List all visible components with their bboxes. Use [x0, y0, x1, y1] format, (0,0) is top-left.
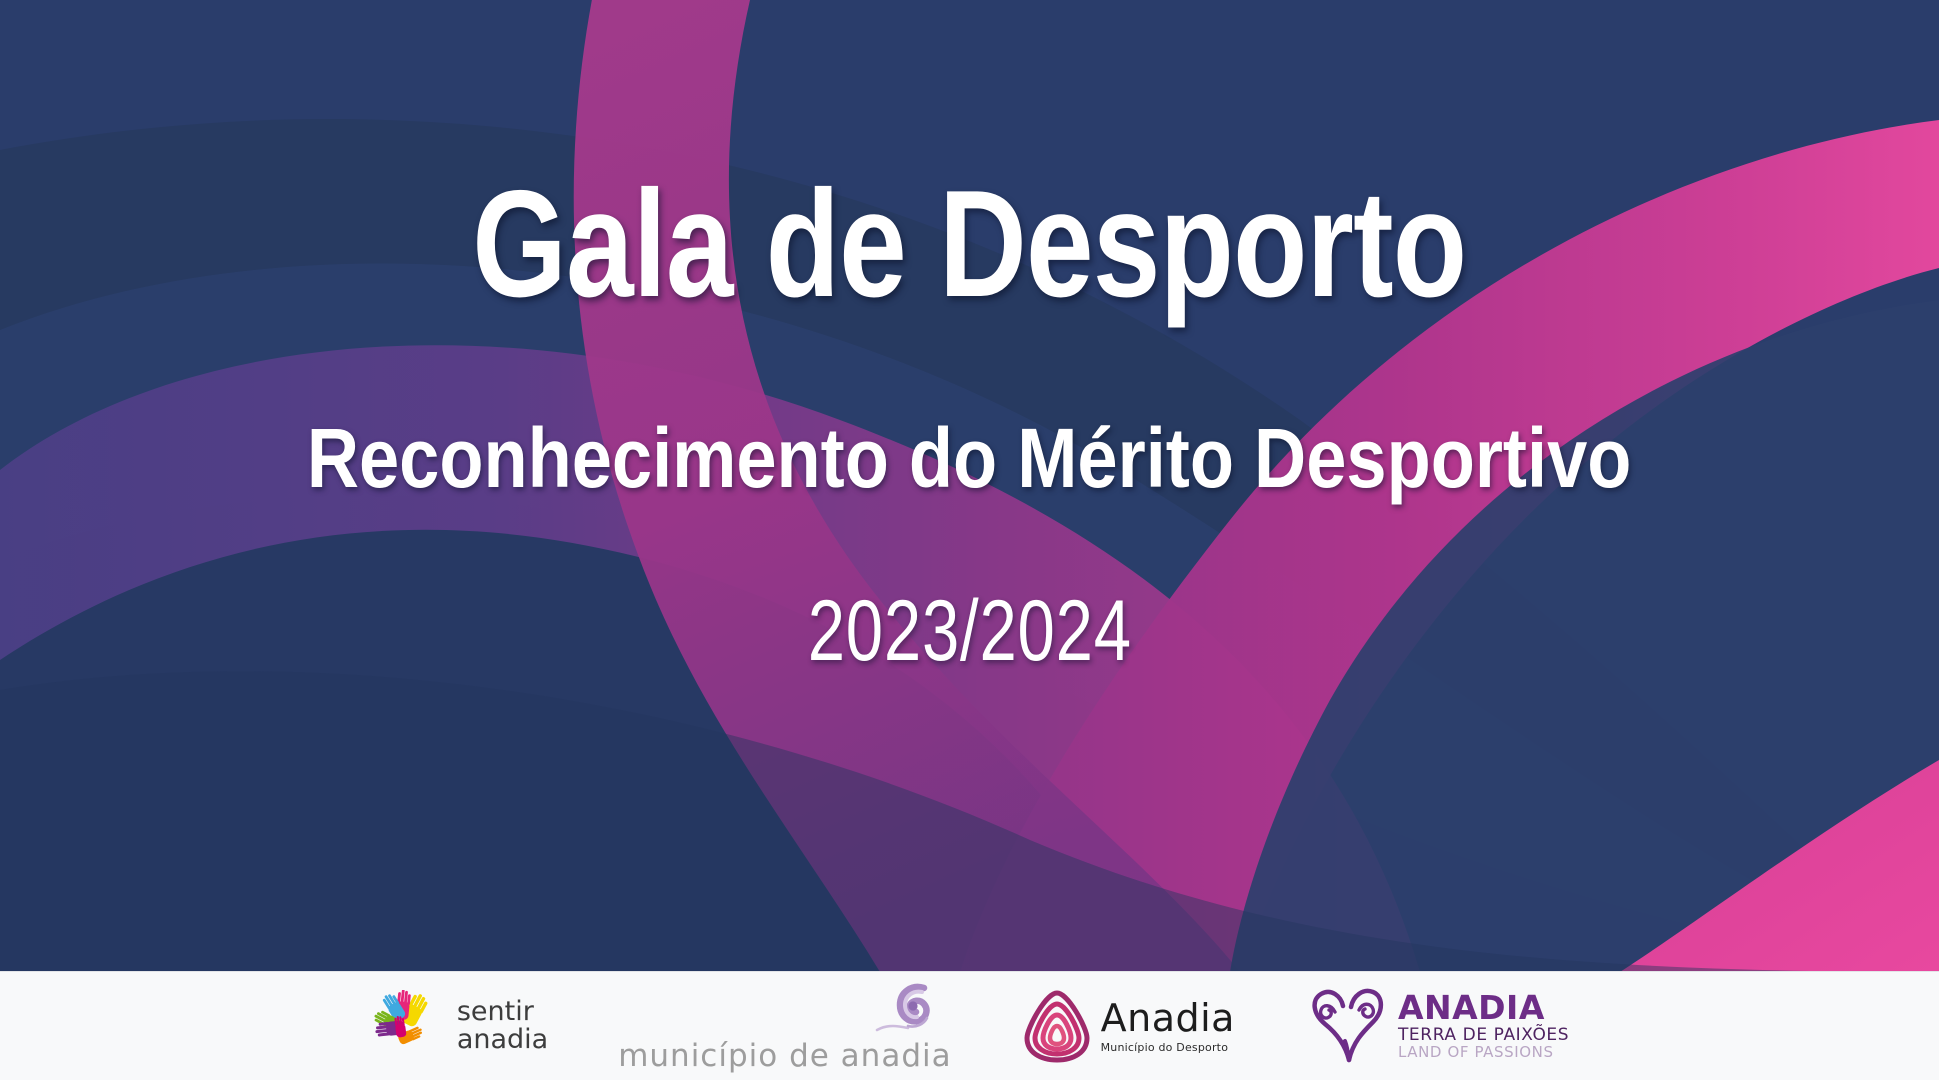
logo-sentir-line2: anadia [457, 1026, 548, 1054]
logo-terra-de-paixoes-label: TERRA DE PAIXÕES [1398, 1027, 1569, 1045]
logo-anadia-caps-label: ANADIA [1398, 991, 1569, 1026]
purple-spiral-icon [872, 982, 936, 1038]
purple-heart-swirl-icon [1305, 986, 1389, 1066]
concentric-triangle-icon [1022, 988, 1092, 1064]
logo-municipio-de-anadia[interactable]: município de anadia [618, 982, 951, 1070]
logo-anadia-sublabel: Município do Desporto [1101, 1042, 1235, 1054]
colorful-hands-icon [370, 990, 448, 1062]
logo-anadia-label: Anadia [1101, 999, 1235, 1039]
logo-sentir-line1: sentir [457, 998, 548, 1026]
logo-anadia-desporto[interactable]: Anadia Município do Desporto [1022, 982, 1235, 1070]
logo-sentir-anadia-text: sentir anadia [457, 998, 548, 1055]
logo-anadia-desporto-text: Anadia Município do Desporto [1101, 999, 1235, 1053]
logo-land-of-passions-label: LAND OF PASSIONS [1398, 1045, 1569, 1061]
logo-anadia-terra-de-paixoes[interactable]: ANADIA TERRA DE PAIXÕES LAND OF PASSIONS [1305, 982, 1569, 1070]
background-artwork [0, 0, 1939, 972]
presentation-slide: Gala de Desporto Reconhecimento do Mérit… [0, 0, 1939, 1080]
logo-terra-de-paixoes-text: ANADIA TERRA DE PAIXÕES LAND OF PASSIONS [1398, 991, 1569, 1061]
logo-municipio-label: município de anadia [618, 1038, 951, 1074]
logo-sentir-anadia[interactable]: sentir anadia [370, 982, 548, 1070]
footer-logo-bar: sentir anadia município de anadia [0, 971, 1939, 1080]
